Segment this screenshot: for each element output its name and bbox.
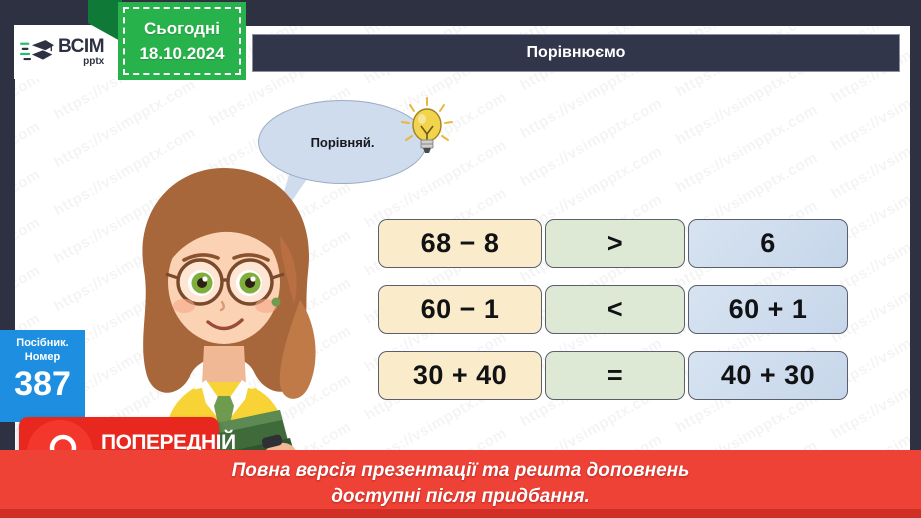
operator-text: < <box>607 294 623 325</box>
comparison-operator[interactable]: = <box>545 351 685 400</box>
expression-right[interactable]: 60 + 1 <box>688 285 848 334</box>
table-row: 30 + 40 = 40 + 30 <box>378 351 848 400</box>
slide-stage: https://vsimpptx.com https://vsimpptx.co… <box>0 0 921 518</box>
expression-left-text: 30 + 40 <box>413 360 507 391</box>
notice-line2: доступні після придбання. <box>232 484 690 510</box>
purchase-notice-banner: Повна версія презентації та решта доповн… <box>0 450 921 518</box>
operator-text: = <box>607 360 623 391</box>
expression-left-text: 60 − 1 <box>421 294 500 325</box>
left-frame-band <box>0 0 15 518</box>
date-badge-label: Сьогодні <box>144 16 220 42</box>
date-badge: Сьогодні 18.10.2024 <box>118 2 246 80</box>
guide-number: 387 <box>0 367 85 401</box>
page-title: Порівнюємо <box>527 44 626 62</box>
table-row: 68 − 8 > 6 <box>378 219 848 268</box>
speech-bubble-text: Порівняй. <box>311 135 375 150</box>
guide-label-line1: Посібник. <box>0 337 85 351</box>
expression-right[interactable]: 6 <box>688 219 848 268</box>
comparison-operator[interactable]: > <box>545 219 685 268</box>
right-frame-band <box>910 0 921 518</box>
bottom-accent-strip <box>0 509 921 518</box>
operator-text: > <box>607 228 623 259</box>
comparison-operator[interactable]: < <box>545 285 685 334</box>
expression-right[interactable]: 40 + 30 <box>688 351 848 400</box>
guide-number-badge: Посібник. Номер 387 <box>0 330 85 422</box>
expression-left[interactable]: 60 − 1 <box>378 285 542 334</box>
expression-left[interactable]: 30 + 40 <box>378 351 542 400</box>
expression-right-text: 60 + 1 <box>729 294 808 325</box>
guide-label-line2: Номер <box>0 351 85 365</box>
comparison-table: 68 − 8 > 6 60 − 1 < 60 + 1 30 + 40 <box>378 219 848 417</box>
notice-line1: Повна версія презентації та решта доповн… <box>232 458 690 484</box>
expression-right-text: 40 + 30 <box>721 360 815 391</box>
expression-right-text: 6 <box>760 228 776 259</box>
lightbulb-icon <box>398 96 456 162</box>
logo-subtitle: pptx <box>58 57 104 67</box>
expression-left-text: 68 − 8 <box>421 228 500 259</box>
table-row: 60 − 1 < 60 + 1 <box>378 285 848 334</box>
expression-left[interactable]: 68 − 8 <box>378 219 542 268</box>
brand-logo: ВСІМ pptx <box>14 25 114 79</box>
date-badge-value: 18.10.2024 <box>139 41 224 67</box>
graduation-cap-icon <box>20 37 54 67</box>
logo-name: ВСІМ <box>58 37 104 56</box>
slide-title-bar: Порівнюємо <box>252 34 900 72</box>
